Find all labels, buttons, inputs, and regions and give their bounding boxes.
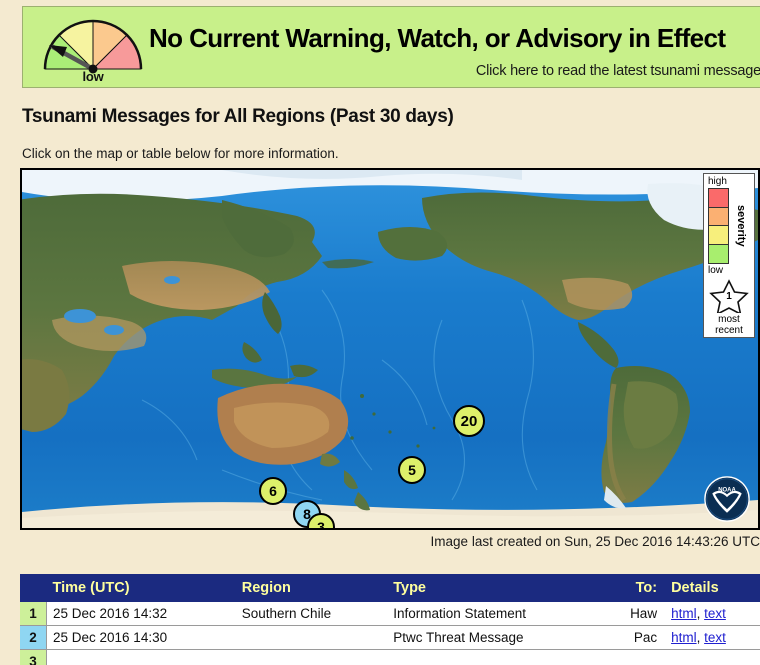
table-row[interactable]: 3 <box>20 650 760 665</box>
gauge-low-label: low <box>37 69 149 84</box>
cell-region: Southern Chile <box>236 602 387 626</box>
column-header-time[interactable]: Time (UTC) <box>47 574 236 602</box>
legend-scale: severity <box>708 188 754 264</box>
cell-details <box>665 650 760 665</box>
legend-color-bars <box>708 188 729 264</box>
legend-high-label: high <box>704 176 754 187</box>
table-row[interactable]: 125 Dec 2016 14:32Southern ChileInformat… <box>20 602 760 626</box>
column-header-details[interactable]: Details <box>665 574 760 602</box>
cell-type <box>387 650 604 665</box>
details-html-link[interactable]: html <box>671 606 697 621</box>
page-subtitle: Click on the map or table below for more… <box>22 146 339 161</box>
threat-gauge: low <box>37 13 149 87</box>
legend-bar-green <box>709 245 728 264</box>
cell-to: Haw <box>604 602 665 626</box>
cell-region <box>236 626 387 650</box>
map-marker-5[interactable]: 5 <box>398 456 426 484</box>
map-marker-6[interactable]: 6 <box>259 477 287 505</box>
tsunami-messages-table: Time (UTC) Region Type To: Details 125 D… <box>20 574 760 665</box>
column-header-type[interactable]: Type <box>387 574 604 602</box>
map-legend: high severity low 1 most recent <box>703 173 755 338</box>
row-number-cell[interactable]: 1 <box>20 602 47 626</box>
cell-details: html, text <box>665 626 760 650</box>
column-header-number[interactable] <box>20 574 47 602</box>
gauge-icon <box>37 13 149 75</box>
page-title: Tsunami Messages for All Regions (Past 3… <box>22 106 453 128</box>
details-separator: , <box>697 630 705 645</box>
legend-most-recent-line2: recent <box>704 326 754 337</box>
cell-to <box>604 650 665 665</box>
latest-tsunami-message-link[interactable]: Click here to read the latest tsunami me… <box>476 63 760 79</box>
noaa-logo-text: NOAA <box>718 488 736 494</box>
cell-time: 25 Dec 2016 14:32 <box>47 602 236 626</box>
legend-bar-orange <box>709 208 728 227</box>
cell-to: Pac <box>604 626 665 650</box>
legend-bar-yellow <box>709 226 728 245</box>
details-text-link[interactable]: text <box>704 630 726 645</box>
column-header-region[interactable]: Region <box>236 574 387 602</box>
row-number-cell[interactable]: 3 <box>20 650 47 665</box>
map-marker-20[interactable]: 20 <box>453 405 485 437</box>
cell-region <box>236 650 387 665</box>
table-body: 125 Dec 2016 14:32Southern ChileInformat… <box>20 602 760 665</box>
map-caption: Image last created on Sun, 25 Dec 2016 1… <box>431 534 760 549</box>
table-header-row: Time (UTC) Region Type To: Details <box>20 574 760 602</box>
legend-star: 1 <box>704 279 754 315</box>
column-header-to[interactable]: To: <box>604 574 665 602</box>
world-map[interactable]: high severity low 1 most recent <box>20 168 760 530</box>
legend-low-label: low <box>704 265 754 276</box>
legend-most-recent-line1: most <box>704 315 754 326</box>
legend-bar-red <box>709 189 728 208</box>
tsunami-messages-page: low No Current Warning, Watch, or Adviso… <box>0 0 760 665</box>
details-html-link[interactable]: html <box>671 630 697 645</box>
legend-star-number: 1 <box>704 291 754 302</box>
cell-time: 25 Dec 2016 14:30 <box>47 626 236 650</box>
cell-type: Information Statement <box>387 602 604 626</box>
table-header: Time (UTC) Region Type To: Details <box>20 574 760 602</box>
legend-severity-label: severity <box>731 188 751 264</box>
table-row[interactable]: 225 Dec 2016 14:30Ptwc Threat MessagePac… <box>20 626 760 650</box>
row-number-cell[interactable]: 2 <box>20 626 47 650</box>
alert-title: No Current Warning, Watch, or Advisory i… <box>149 23 725 54</box>
map-graphic <box>22 170 758 528</box>
alert-banner: low No Current Warning, Watch, or Adviso… <box>22 6 760 88</box>
cell-type: Ptwc Threat Message <box>387 626 604 650</box>
noaa-logo-icon: NOAA <box>704 476 750 522</box>
cell-details: html, text <box>665 602 760 626</box>
cell-time <box>47 650 236 665</box>
details-separator: , <box>697 606 705 621</box>
details-text-link[interactable]: text <box>704 606 726 621</box>
